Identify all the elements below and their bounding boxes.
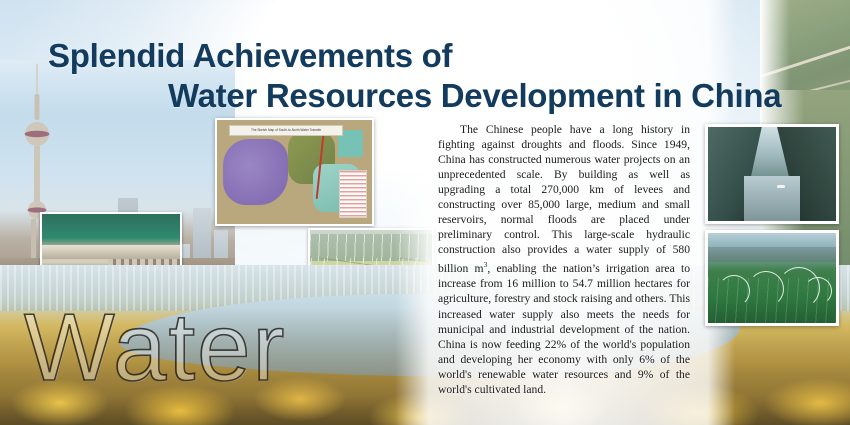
dam-wall (42, 245, 180, 259)
page-title: Splendid Achievements of Water Resources… (0, 36, 800, 116)
south-to-north-water-transfer-map-photo: The Sketch Map of South-to-North Water T… (215, 118, 374, 226)
sprinkler-arc (804, 277, 832, 305)
map-region-west (223, 139, 288, 206)
gorge-boat (777, 185, 785, 188)
water-watermark-text: Water (24, 300, 286, 396)
river-gorge-photo (705, 124, 839, 224)
body-paragraph: The Chinese people have a long history i… (438, 122, 690, 398)
gorge-river-water (744, 176, 800, 221)
sprinkler-irrigation-photo (705, 230, 839, 326)
poster-canvas: The Sketch Map of South-to-North Water T… (0, 0, 850, 425)
sprinkler-arc (718, 275, 750, 307)
irrigation-distant-hills (708, 247, 836, 261)
map-caption: The Sketch Map of South-to-North Water T… (229, 125, 343, 136)
title-line-1: Splendid Achievements of (0, 36, 800, 76)
map-legend-panel (339, 170, 367, 218)
title-line-2: Water Resources Development in China (0, 76, 800, 116)
body-text-part-1: The Chinese people have a long history i… (438, 123, 690, 276)
body-text-part-2: , enabling the nation’s irrigation area … (438, 262, 690, 396)
